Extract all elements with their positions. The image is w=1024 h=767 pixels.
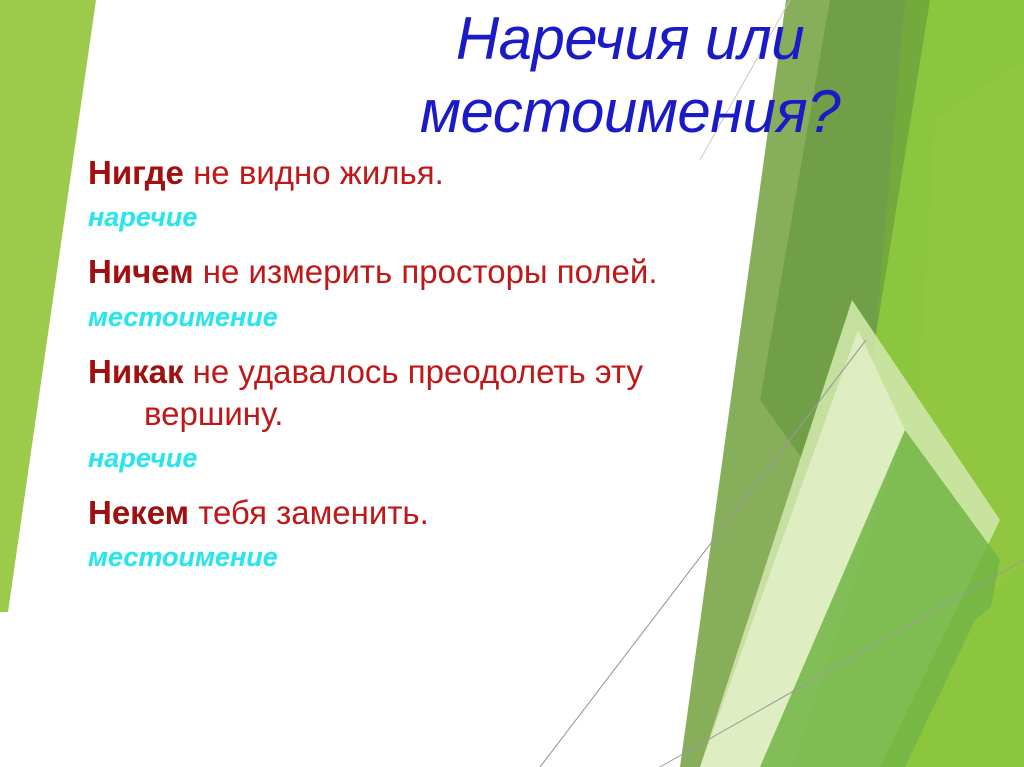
list-item: Некем тебя заменить. местоимение xyxy=(88,492,878,575)
slide-content: Наречия или местоимения? Нигде не видно … xyxy=(0,0,1024,767)
answer-label: местоимение xyxy=(88,300,878,335)
sentence-keyword: Некем xyxy=(88,494,189,531)
answer-label: наречие xyxy=(88,200,878,235)
exercise-list: Нигде не видно жилья. наречие Ничем не и… xyxy=(88,152,878,592)
sentence-remainder: не видно жилья. xyxy=(184,154,444,191)
sentence-remainder: тебя заменить. xyxy=(189,494,429,531)
sentence-text: Некем тебя заменить. xyxy=(88,492,878,534)
page-title: Наречия или местоимения? xyxy=(300,2,960,148)
sentence-remainder: не измерить просторы полей. xyxy=(194,253,658,290)
list-item: Никак не удавалось преодолеть этувершину… xyxy=(88,351,878,477)
sentence-keyword: Нигде xyxy=(88,154,184,191)
sentence-keyword: Ничем xyxy=(88,253,194,290)
sentence-remainder: не удавалось преодолеть эту xyxy=(184,353,643,390)
presentation-slide: Наречия или местоимения? Нигде не видно … xyxy=(0,0,1024,767)
sentence-continuation: вершину. xyxy=(88,393,878,435)
sentence-text: Никак не удавалось преодолеть этувершину… xyxy=(88,351,878,435)
answer-label: наречие xyxy=(88,441,878,476)
answer-label: местоимение xyxy=(88,540,878,575)
sentence-keyword: Никак xyxy=(88,353,184,390)
sentence-text: Нигде не видно жилья. xyxy=(88,152,878,194)
list-item: Ничем не измерить просторы полей. местои… xyxy=(88,251,878,334)
sentence-text: Ничем не измерить просторы полей. xyxy=(88,251,878,293)
list-item: Нигде не видно жилья. наречие xyxy=(88,152,878,235)
